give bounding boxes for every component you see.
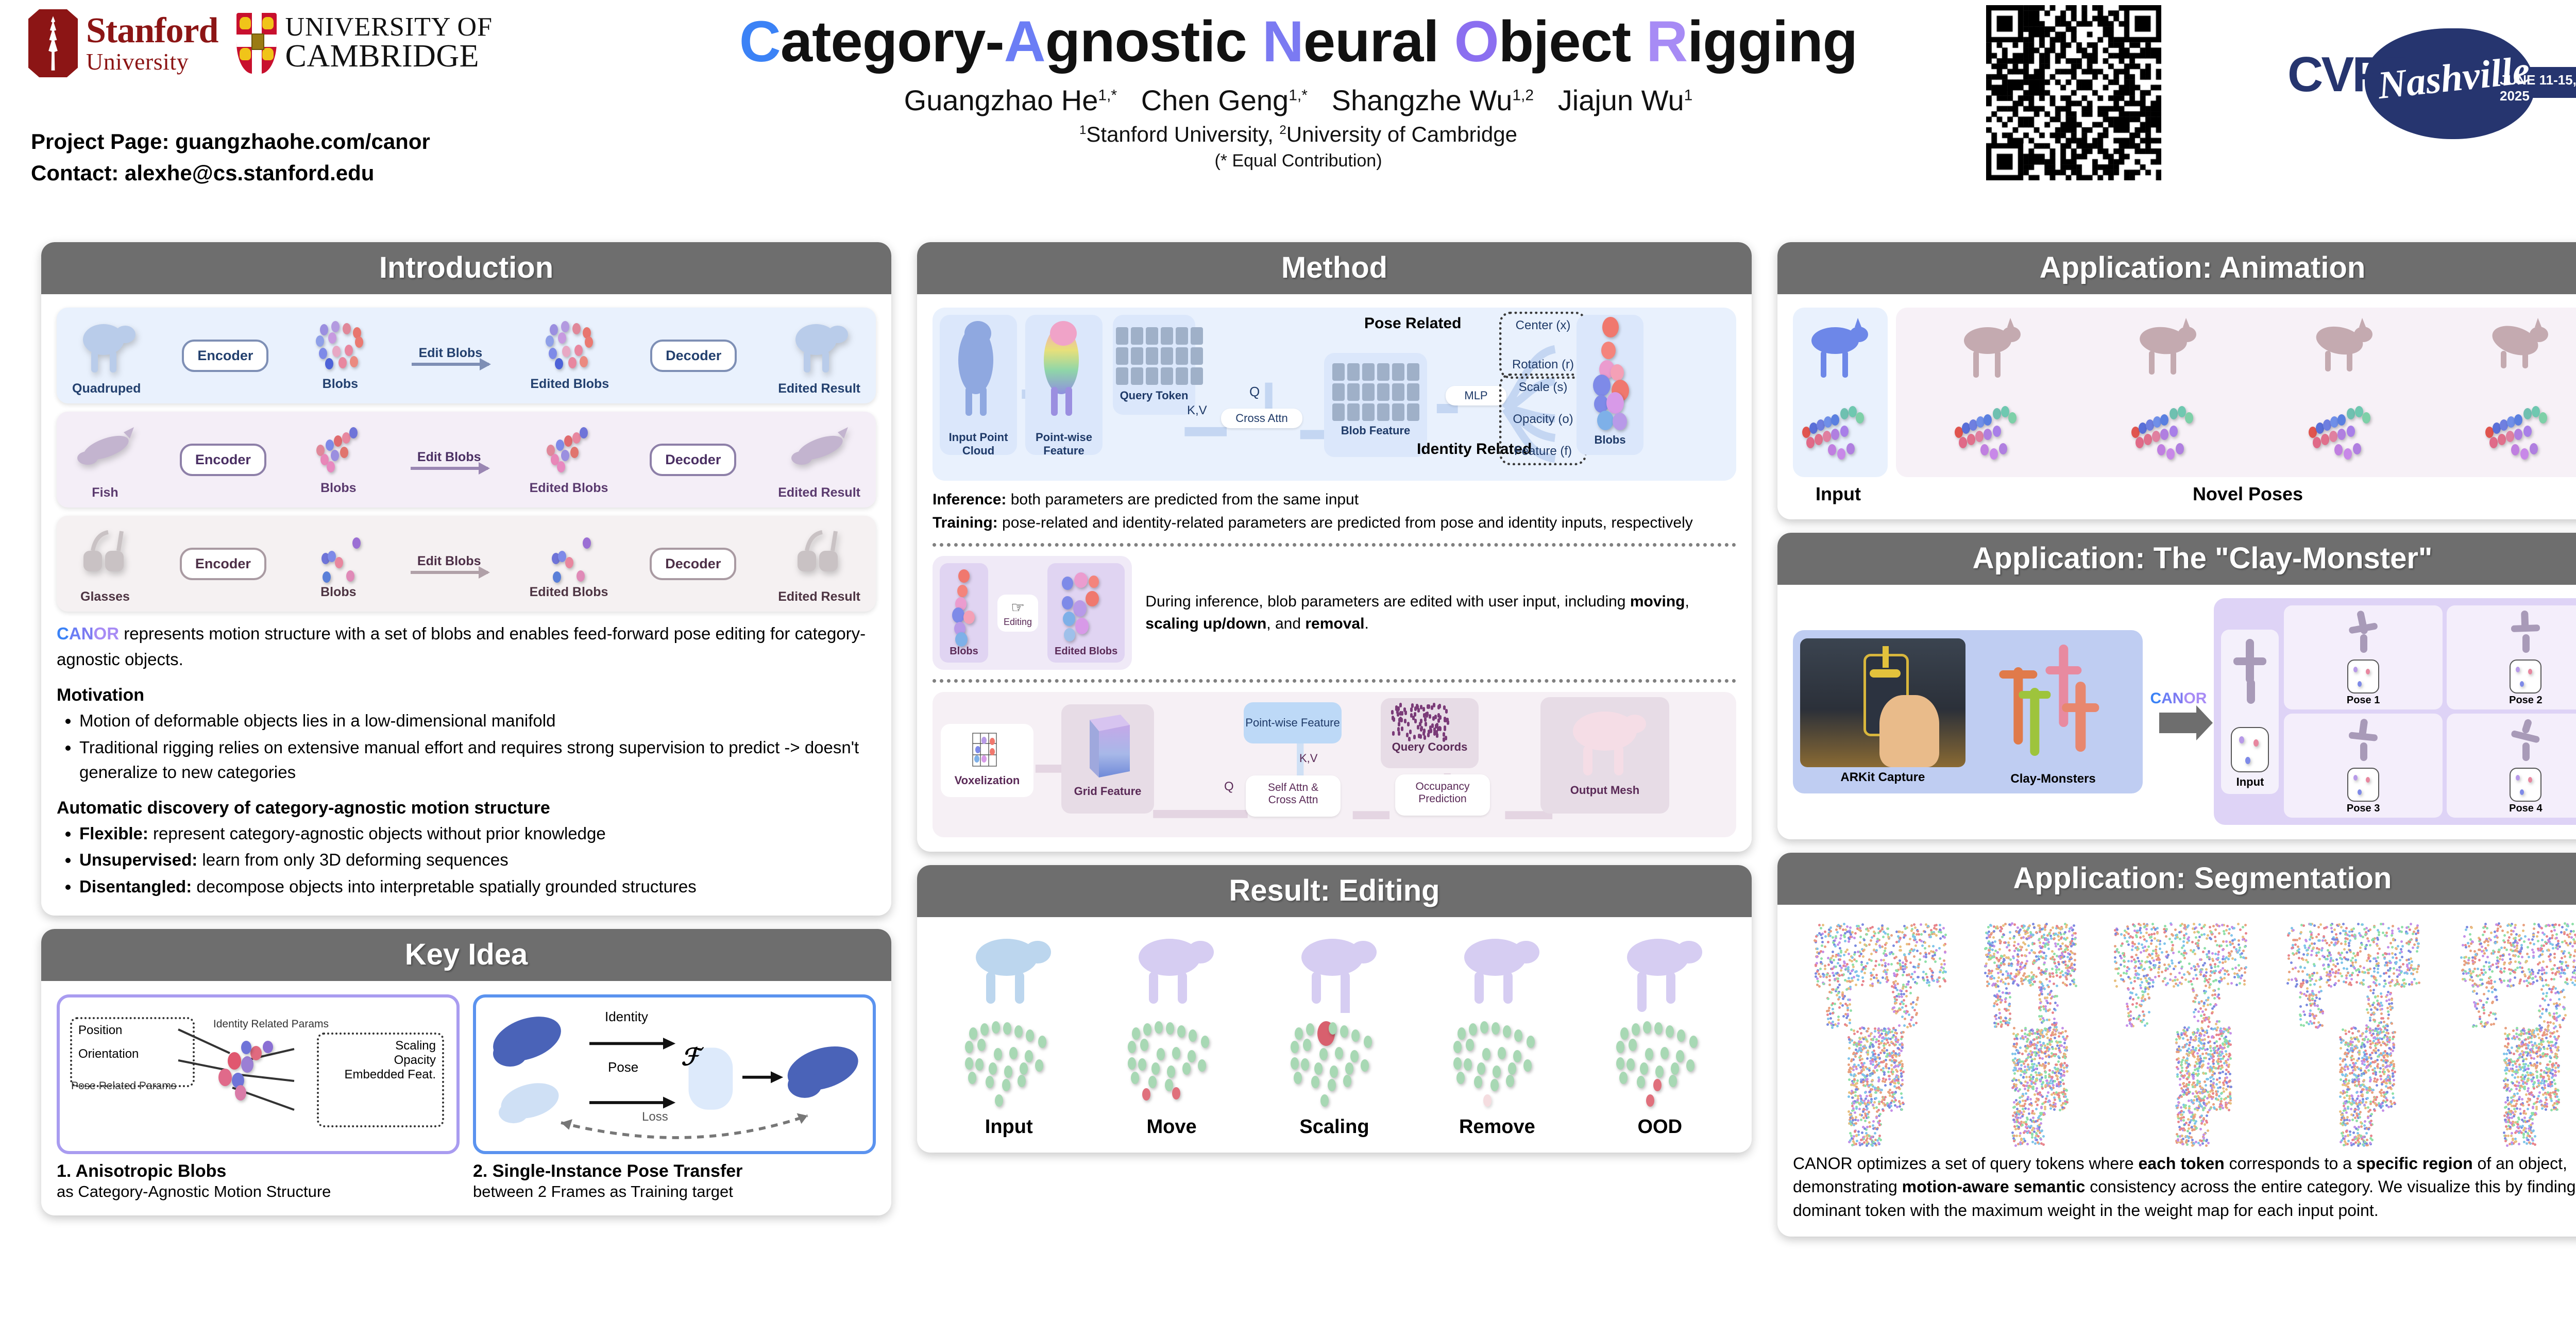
method-pose-params-group: Center (x) Rotation (r) [1499,312,1587,379]
animation-novel-pose [1952,314,2029,471]
segmentation-point-cloud [1978,918,2081,1026]
segmentation-row-quadrupeds [1793,918,2576,1026]
result-blob [1513,1050,1521,1062]
blob [323,571,331,583]
app-clay-header: Application: The "Clay-Monster" [1777,533,2576,585]
token-cell [1392,383,1404,401]
key-idea-box-pose-transfer: Identity Pose ℱ Loss [473,994,876,1154]
query-point [1433,703,1435,707]
segmentation-point-cloud [2105,918,2254,1026]
token-cell [1347,403,1360,421]
blob-feature-grid [1329,363,1422,421]
result-blob [1671,1062,1679,1075]
blob [561,321,569,332]
title-segment: bject [1499,9,1647,74]
token-cell [1191,347,1203,365]
blob [346,570,354,582]
intro-blobs-label: Blobs [323,377,358,392]
blob [572,323,581,334]
blob [331,450,339,461]
animation-blob [2136,437,2144,448]
animation-blob [2337,414,2346,426]
stanford-logo-line1: Stanford [86,13,218,49]
blob [549,348,557,359]
result-blob [1035,1059,1043,1072]
title-segment: N [1262,9,1303,74]
intro-blobs: Blobs [308,424,369,496]
query-point [1432,716,1435,721]
query-point [1445,709,1448,714]
query-point [1413,735,1416,739]
blob [2353,667,2358,672]
author-name: Guangzhao He1,* [904,84,1141,116]
segmentation-point-cloud [2451,918,2576,1026]
result-blob [968,1072,976,1084]
result-blob [1646,1094,1654,1107]
result-blob [1616,1041,1624,1053]
method-kv-label: K,V [1187,403,1207,418]
key-idea-2-caption: 2. Single-Instance Pose Transfer [473,1161,876,1181]
query-coords-panel: Query Coords [1381,698,1479,768]
result-blob [1172,1047,1180,1059]
clay-pose-cell: Pose 1 [2284,605,2442,709]
result-blob [1523,1059,1532,1072]
blob [580,427,588,438]
clay-input-label: Input [2226,775,2274,789]
result-blob [1490,1079,1499,1091]
segmentation-quadruped [2278,918,2427,1026]
method-training-text: pose-related and identity-related parame… [998,514,1693,531]
result-blob [1350,1050,1359,1062]
token-cell [1161,327,1173,345]
intro-edited-blobs-label: Edited Blobs [530,585,608,600]
edit-bold-scaling: scaling up/down [1145,615,1266,632]
result-blob [1340,1025,1348,1038]
animation-mesh [2303,314,2381,396]
blob [2520,789,2524,795]
method-inference-text: both parameters are predicted from the s… [1006,491,1359,508]
result-blob [1351,1029,1360,1042]
edit-bold-removal: removal [1305,615,1364,632]
query-point [1400,718,1403,722]
result-editing-grid: InputMoveScalingRemoveOOD [933,931,1736,1138]
clay-pose-label: Pose 4 [2450,803,2576,815]
method-divider-2 [933,679,1736,683]
key-idea-box-blobs: Position Orientation Pose Related Params… [57,994,460,1154]
introduction-header: Introduction [41,242,891,294]
animation-input-label: Input [1793,483,1884,505]
blob [568,357,577,368]
clay-figure-top [1883,646,1889,668]
result-blob [1291,1057,1299,1070]
segmentation-point-cloud [2278,918,2427,1026]
query-point [1403,707,1406,712]
intro-edited-blobs-label: Edited Blobs [530,377,609,392]
segmentation-row-torsos [1793,1026,2576,1145]
editing-action-box[interactable]: ☞ Editing [997,595,1038,632]
result-blob [1506,1075,1514,1087]
method-query-token-label: Query Token [1113,389,1195,402]
animation-blob [2353,443,2361,454]
animation-blob [2144,434,2152,445]
editing-blob-cluster-before [947,568,981,646]
blob [340,447,348,458]
query-point [1437,713,1440,718]
arrow-right-icon [411,571,488,574]
query-point [1420,726,1423,731]
token-cell [1347,383,1360,401]
token-cell [1347,363,1360,381]
token-cell [1161,367,1173,385]
app-animation-header: Application: Animation [1777,242,2576,294]
motivation-heading: Motivation [57,685,876,705]
result-mesh [957,931,1060,1013]
result-blob-map [965,1018,1053,1111]
intro-encoder-box[interactable]: Encoder [180,548,266,580]
token-cell [1131,347,1143,365]
intro-encoder-box[interactable]: Encoder [180,444,266,476]
query-point [1397,727,1400,732]
clay-monsters-label: Clay-Monsters [1971,772,2136,786]
method-editing-row: Blobs ☞ Editing [933,556,1736,670]
occupancy-line1: Occupancy [1401,781,1484,793]
result-blob [1131,1072,1139,1084]
intro-edit-label: Edit Blobs [417,450,481,465]
result-blob [1188,1050,1196,1062]
blob [2353,775,2358,781]
blob [332,346,341,357]
intro-input-mesh: Quadruped [72,315,141,396]
method-inference-bold: Inference: [933,491,1006,508]
result-blob [1329,1022,1337,1035]
animation-blob [2185,412,2193,424]
clay-pose-mesh [2344,608,2383,656]
result-blob [1508,1062,1516,1075]
app-animation-body: Input Novel Poses [1777,294,2576,519]
query-point [1401,726,1403,731]
blob [2358,789,2362,795]
segmentation-quadruped [1978,918,2081,1026]
card-method: Method [917,242,1752,852]
cambridge-logo-line1: UNIVERSITY OF [285,14,493,41]
intro-edited-blobs: Edited Blobs [530,320,609,392]
intro-result-label: Edited Result [778,589,860,604]
result-column: Scaling [1258,931,1411,1138]
intro-edit-arrow: Edit Blobs [412,346,489,366]
contact-line: Contact: alexhe@cs.stanford.edu [31,158,430,189]
introduction-title: Introduction [41,250,891,285]
animation-blob [2008,412,2016,424]
blob [562,346,570,357]
animation-blob [2152,431,2160,442]
animation-blob [2511,444,2519,455]
animation-blob [1828,444,1836,455]
card-app-segmentation: Application: Segmentation CANOR optimize… [1777,853,2576,1237]
method-decoder-diagram: Voxelization Grid Feature [933,692,1736,837]
cvpr-dates: JUNE 11-15, 2025 [2500,72,2576,104]
result-blob [1498,1047,1506,1059]
result-blob [1503,1025,1511,1038]
result-column-label: Remove [1459,1116,1535,1138]
method-mlp-box[interactable]: MLP [1446,386,1506,405]
animation-blob [2160,414,2168,426]
result-blob [1637,1076,1645,1088]
qr-code[interactable] [1986,5,2161,180]
card-introduction: Introduction QuadrupedEncoderBlobsEdit B… [41,242,891,916]
result-blob [989,1062,997,1075]
animation-mesh [1952,314,2029,396]
clay-canor-transform: CANOR [2150,690,2207,733]
intro-result-mesh: Edited Result [778,419,860,500]
result-blob [1155,1021,1163,1034]
query-point [1423,735,1426,740]
blob [546,335,554,347]
edit-bold-moving: moving [1630,593,1685,610]
method-body: Input Point Cloud [917,294,1752,852]
segmentation-quadruped [1805,918,1954,1026]
project-page-url[interactable]: guangzhaohe.com/canor [175,129,430,154]
column-left: Introduction QuadrupedEncoderBlobsEdit B… [41,242,891,1229]
app-clay-body: ARKit Capture Clay-Monsters [1777,585,2576,839]
query-point [1425,712,1428,717]
result-blob [1655,1066,1664,1078]
result-blob [1009,1047,1018,1059]
pose-transfer-pose-label: Pose [608,1059,638,1075]
query-coords-label: Query Coords [1381,740,1479,754]
result-blob [1142,1088,1150,1101]
query-point [1429,714,1431,719]
clay-arrow-icon [2159,713,2197,733]
logo-row: Stanford University UNIVERSITY OF CAMBRI… [28,9,493,77]
blob [580,356,588,367]
method-param-rotation: Rotation (r) [1509,358,1577,372]
animation-blob [2334,444,2343,455]
animation-blob [2170,408,2178,419]
animation-blob-map [2479,399,2556,471]
animation-blob [1993,426,2001,437]
animation-blob [2321,434,2329,445]
result-blob [1676,1050,1684,1062]
result-blob [1480,1021,1488,1034]
editing-blobs-before: Blobs [940,563,988,663]
auto-discovery-bullet: Disentangled: decompose objects into int… [79,874,876,899]
result-blob [1189,1029,1197,1042]
result-blob [1660,1047,1669,1059]
animation-blob [1806,437,1815,448]
grid-feature-panel: Grid Feature [1061,704,1154,814]
query-point [1420,719,1422,723]
result-mesh [1608,931,1711,1013]
segmentation-emphasis: specific region [2357,1154,2473,1173]
intro-encoder-box[interactable]: Encoder [182,340,268,372]
token-cell [1407,383,1419,401]
animation-blob [2362,412,2370,424]
blob [335,557,343,568]
blob [326,439,334,451]
animation-blob [2530,443,2538,454]
animation-blob [2506,431,2514,442]
query-point [1446,718,1449,722]
intro-decoder-box[interactable]: Decoder [650,548,736,580]
method-input-point-cloud-label: Input Point Cloud [940,431,1017,458]
animation-blob [2329,431,2337,442]
result-blob [969,1027,977,1040]
blob [583,537,591,549]
blob [355,336,363,348]
self-cross-attn-box[interactable]: Self Attn & Cross Attn [1246,775,1341,817]
query-point [1417,725,1419,730]
introduction-body: QuadrupedEncoderBlobsEdit BlobsEdited Bl… [41,294,891,916]
token-cell [1131,367,1143,385]
query-point [1404,719,1406,723]
result-blob [1295,1027,1303,1040]
token-cell [1146,367,1158,385]
result-blob [1025,1050,1033,1062]
blob [577,570,585,582]
qr-code-canvas[interactable] [1986,5,2161,180]
output-mesh-label: Output Mesh [1540,784,1669,797]
affiliations: 1Stanford University, 2University of Cam… [680,122,1917,147]
result-blob [1514,1029,1522,1042]
clay-pose-grid: Pose 1Pose 2Pose 3Pose 4 [2284,605,2576,818]
result-blob [1294,1072,1302,1084]
clay-figure-arms [1870,669,1901,678]
blob [558,332,566,344]
blob [338,357,347,368]
animation-blob [2355,406,2363,417]
result-blob [1361,1059,1369,1072]
input-point-cloud-mesh [940,315,1017,428]
animation-blob [1840,426,1849,437]
query-point [1438,704,1441,708]
animation-blob [1831,414,1839,426]
method-input-point-cloud-panel: Input Point Cloud [940,315,1017,455]
editing-blob-cluster-after [1055,568,1103,646]
contact-email[interactable]: alexhe@cs.stanford.edu [125,161,374,185]
result-blob [986,1076,994,1088]
blob [2516,775,2520,781]
token-cell [1392,363,1404,381]
method-inference-line: Inference: both parameters are predicted… [933,489,1736,511]
clay-row: ARKit Capture Clay-Monsters [1793,598,2576,825]
result-blob-map [1616,1018,1704,1111]
title-segment: O [1454,9,1499,74]
token-cell [1116,367,1128,385]
result-column-label: OOD [1637,1116,1682,1138]
result-blob [1004,1066,1012,1078]
segmentation-torso [2317,1026,2415,1145]
blob [585,336,593,348]
decoder-q-label: Q [1224,780,1234,794]
intro-decoder-box[interactable]: Decoder [650,340,737,372]
query-point [1444,725,1446,730]
intro-input-mesh: Glasses [72,523,138,604]
blob [556,439,564,451]
blob [328,551,336,562]
result-column-label: Input [985,1116,1033,1138]
self-attn-line1: Self Attn & [1252,782,1334,794]
edit-text-3: , and [1266,615,1305,632]
result-blob [1157,1048,1165,1060]
author-name: Jiajun Wu1 [1558,84,1693,116]
result-blob [1474,1076,1482,1088]
column-right: Application: Animation Input Novel Poses… [1777,242,2576,1250]
animation-blob [1967,434,1975,445]
token-cell [1191,327,1203,345]
result-blob [1686,1059,1694,1072]
animation-blob [2344,448,2352,460]
blob [343,323,351,334]
result-blob [1343,1075,1351,1087]
token-cell [1377,363,1389,381]
title-segment: eural [1303,9,1454,74]
animation-mesh [2127,314,2205,396]
blob [550,324,558,335]
animation-blob [2514,429,2522,440]
method-param-center: Center (x) [1509,318,1577,333]
animation-blob-map [2303,399,2381,471]
intro-result-label: Edited Result [778,485,860,500]
intro-edited-blobs: Edited Blobs [530,528,608,600]
output-mesh-icon [1553,701,1656,784]
method-cross-attn-box[interactable]: Cross Attn [1221,409,1302,428]
stanford-logo: Stanford University [28,9,218,77]
result-blob [1143,1023,1151,1036]
output-mesh-panel: Output Mesh [1540,697,1669,814]
result-blob [977,1039,986,1051]
occupancy-prediction-box[interactable]: Occupancy Prediction [1395,774,1490,816]
segmentation-quadruped [2105,918,2254,1026]
animation-blob [1993,408,2001,419]
intro-edited-blobs-label: Edited Blobs [530,481,608,496]
result-editing-header: Result: Editing [917,865,1752,917]
arkit-photo [1800,638,1965,767]
token-cell [1176,367,1188,385]
cvpr-logo: CVPR Nashville JUNE 11-15, 2025 [2287,15,2576,155]
motivation-bullet: Motion of deformable objects lies in a l… [79,708,876,733]
animation-blob [1999,443,2007,454]
method-training-bold: Training: [933,514,998,531]
animation-blob [2489,437,2498,448]
key-idea-2-subcaption: between 2 Frames as Training target [473,1182,876,1201]
card-key-idea: Key Idea Position Orientation Pose Relat… [41,929,891,1215]
method-pointwise-feature-panel: Point-wise Feature [1025,315,1103,455]
result-blob [965,1041,973,1053]
intro-decoder-box[interactable]: Decoder [650,444,736,476]
animation-blob [2157,444,2165,455]
token-cell [1146,327,1158,345]
intro-blobs: Blobs [308,528,369,600]
animation-novel-pose [2479,314,2556,471]
token-cell [1392,403,1404,421]
query-point [1408,737,1411,741]
result-mesh [1283,931,1386,1013]
clay-input-mesh [2226,635,2274,722]
intro-result-label: Edited Result [778,381,860,396]
query-point [1401,711,1403,716]
self-attn-line2: Cross Attn [1252,794,1334,806]
result-blob [1469,1023,1477,1036]
introduction-row: GlassesEncoderBlobsEdit BlobsEdited Blob… [57,516,876,612]
segmentation-point-cloud [2154,1026,2251,1145]
result-blob [992,1021,1000,1034]
intro-input-label: Fish [92,485,118,500]
intro-edit-label: Edit Blobs [417,554,481,569]
method-architecture-diagram: Input Point Cloud [933,308,1736,481]
blob [2366,669,2370,674]
blob [319,348,327,359]
column-middle: Method [917,242,1752,1166]
